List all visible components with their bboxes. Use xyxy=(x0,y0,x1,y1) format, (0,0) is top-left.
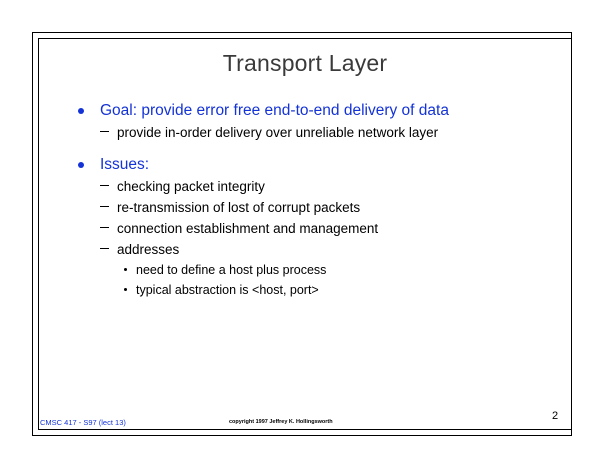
bullet-issues: Issues: xyxy=(40,154,568,176)
footer-course-label: CMSC 417 - S97 (lect 13) xyxy=(40,418,126,427)
dash-bullet-icon xyxy=(100,248,109,249)
round-bullet-icon xyxy=(78,162,84,168)
bullet-label: checking packet integrity xyxy=(117,176,265,197)
footer-copyright-label: copyright 1997 Jeffrey K. Hollingsworth xyxy=(229,419,333,425)
bullet-need-to-define-host: need to define a host plus process xyxy=(40,260,568,280)
page-number: 2 xyxy=(549,410,561,422)
bullet-addresses: addresses xyxy=(40,239,568,260)
bullet-label: Issues: xyxy=(100,154,149,176)
bullet-label: Goal: provide error free end-to-end deli… xyxy=(100,100,449,122)
dash-bullet-icon xyxy=(100,206,109,207)
slide-content: Goal: provide error free end-to-end deli… xyxy=(40,100,568,300)
bullet-label: provide in-order delivery over unreliabl… xyxy=(117,122,438,143)
small-round-bullet-icon xyxy=(124,268,127,271)
round-bullet-icon xyxy=(78,108,84,114)
bullet-label: need to define a host plus process xyxy=(136,260,326,280)
bullet-label: typical abstraction is <host, port> xyxy=(136,280,319,300)
bullet-checking-packet-integrity: checking packet integrity xyxy=(40,176,568,197)
bullet-connection-establishment: connection establishment and management xyxy=(40,218,568,239)
bullet-goal: Goal: provide error free end-to-end deli… xyxy=(40,100,568,122)
bullet-typical-abstraction: typical abstraction is <host, port> xyxy=(40,280,568,300)
bullet-label: addresses xyxy=(117,239,179,260)
bullet-in-order-delivery: provide in-order delivery over unreliabl… xyxy=(40,122,568,143)
dash-bullet-icon xyxy=(100,185,109,186)
page-title: Transport Layer xyxy=(38,50,572,77)
dash-bullet-icon xyxy=(100,227,109,228)
spacer xyxy=(40,143,568,148)
bullet-label: connection establishment and management xyxy=(117,218,378,239)
dash-bullet-icon xyxy=(100,131,109,132)
small-round-bullet-icon xyxy=(124,288,127,291)
bullet-re-transmission: re-transmission of lost of corrupt packe… xyxy=(40,197,568,218)
bullet-label: re-transmission of lost of corrupt packe… xyxy=(117,197,360,218)
